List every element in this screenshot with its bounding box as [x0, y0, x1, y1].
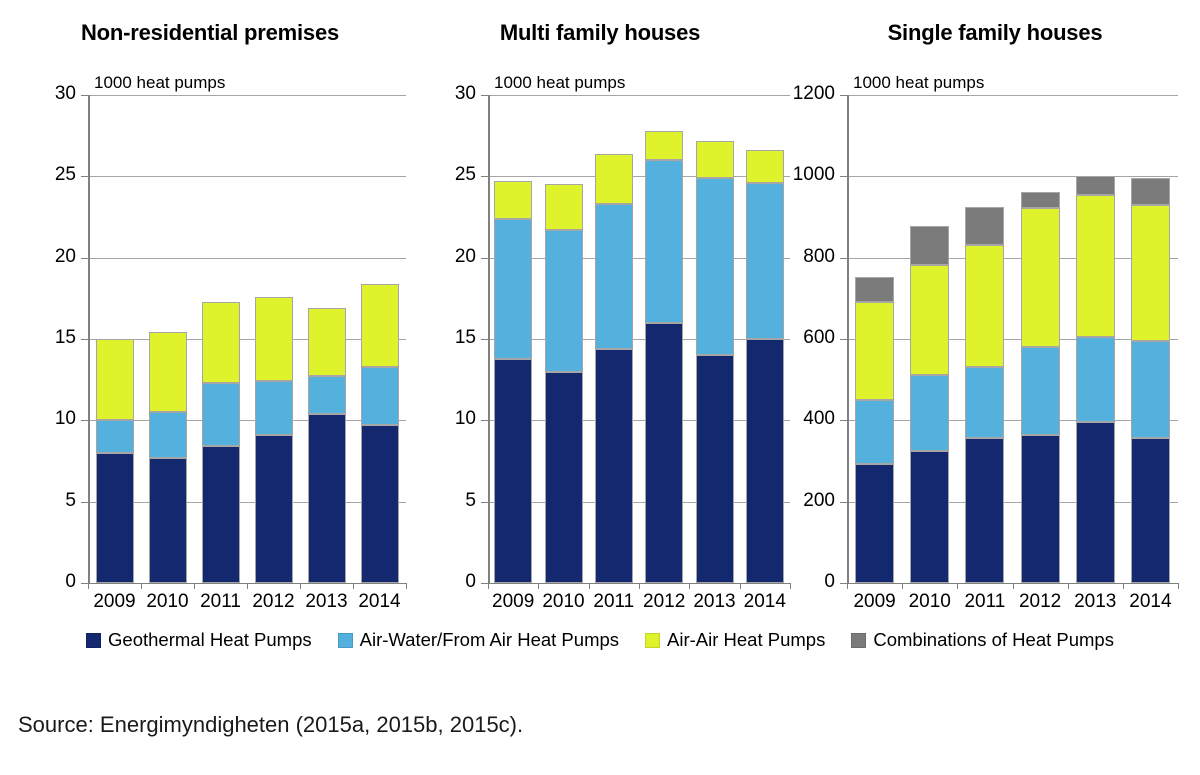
axis-unit-label: 1000 heat pumps — [494, 73, 625, 93]
bar-segment[interactable] — [696, 178, 734, 355]
stacked-bar[interactable] — [361, 95, 399, 583]
gridline — [849, 339, 1178, 340]
y-tick-mark — [481, 339, 488, 340]
y-axis-tick-label: 1200 — [781, 83, 835, 105]
bar-segment[interactable] — [1021, 435, 1060, 583]
legend-label: Combinations of Heat Pumps — [873, 629, 1114, 651]
stacked-bar[interactable] — [1076, 95, 1115, 583]
chart-panel-non-residential: Non-residential premises 1000 heat pumps… — [0, 0, 420, 615]
source-note: Source: Energimyndigheten (2015a, 2015b,… — [18, 712, 523, 738]
legend-label: Geothermal Heat Pumps — [108, 629, 312, 651]
bar-segment[interactable] — [202, 302, 240, 383]
bar-segment[interactable] — [202, 446, 240, 583]
bar-segment[interactable] — [965, 367, 1004, 438]
gridline — [90, 420, 406, 421]
plot-area-0: 1000 heat pumps0510152025302009201020112… — [0, 0, 420, 615]
gridline — [90, 339, 406, 340]
chart-panels: Non-residential premises 1000 heat pumps… — [0, 0, 1200, 615]
x-axis-line — [488, 583, 790, 584]
bar-segment[interactable] — [361, 367, 399, 426]
y-axis-tick-label: 15 — [22, 327, 76, 349]
legend-swatch-icon — [86, 633, 101, 648]
bar-segment[interactable] — [855, 302, 894, 400]
y-axis-tick-label: 5 — [22, 490, 76, 512]
y-axis-tick-label: 0 — [22, 571, 76, 593]
gridline — [90, 502, 406, 503]
legend-label: Air-Water/From Air Heat Pumps — [360, 629, 619, 651]
stacked-bar[interactable] — [910, 95, 949, 583]
bar-segment[interactable] — [361, 425, 399, 583]
stacked-bar[interactable] — [96, 95, 134, 583]
y-tick-mark — [481, 258, 488, 259]
stacked-bar[interactable] — [645, 95, 683, 583]
x-axis-tick-label: 2012 — [247, 591, 300, 613]
bar-segment[interactable] — [255, 297, 293, 382]
bar-segment[interactable] — [746, 150, 784, 183]
x-axis-line — [88, 583, 406, 584]
legend-label: Air-Air Heat Pumps — [667, 629, 825, 651]
gridline — [849, 95, 1178, 96]
legend-swatch-icon — [645, 633, 660, 648]
gridline — [90, 176, 406, 177]
plot-frame — [88, 95, 406, 583]
bar-segment[interactable] — [910, 226, 949, 265]
legend-swatch-icon — [851, 633, 866, 648]
x-axis-tick-label: 2012 — [639, 591, 689, 613]
bar-segment[interactable] — [910, 375, 949, 451]
y-axis-tick-label: 600 — [781, 327, 835, 349]
y-tick-mark — [840, 583, 847, 584]
bar-segment[interactable] — [1076, 337, 1115, 423]
stacked-bar[interactable] — [545, 95, 583, 583]
bar-segment[interactable] — [149, 458, 187, 583]
y-tick-mark — [840, 420, 847, 421]
y-tick-mark — [840, 502, 847, 503]
y-axis-tick-label: 0 — [422, 571, 476, 593]
x-axis-line — [847, 583, 1178, 584]
y-tick-mark — [81, 95, 88, 96]
y-tick-mark — [840, 258, 847, 259]
y-axis-tick-label: 15 — [422, 327, 476, 349]
x-axis-tick-label: 2010 — [141, 591, 194, 613]
bar-segment[interactable] — [855, 277, 894, 302]
chart-legend: Geothermal Heat PumpsAir-Water/From Air … — [0, 626, 1200, 654]
bar-segment[interactable] — [255, 381, 293, 435]
y-tick-mark — [81, 176, 88, 177]
bar-segment[interactable] — [96, 339, 134, 420]
y-tick-mark — [481, 583, 488, 584]
x-axis-tick-label: 2013 — [1068, 591, 1123, 613]
stacked-bar[interactable] — [696, 95, 734, 583]
legend-item[interactable]: Air-Air Heat Pumps — [645, 629, 825, 651]
bar-segment[interactable] — [595, 204, 633, 349]
y-axis-tick-label: 20 — [422, 246, 476, 268]
bar-segment[interactable] — [965, 438, 1004, 583]
y-tick-mark — [481, 502, 488, 503]
bar-segment[interactable] — [746, 183, 784, 339]
gridline — [849, 420, 1178, 421]
bar-segment[interactable] — [965, 245, 1004, 366]
stacked-bar[interactable] — [255, 95, 293, 583]
gridline — [849, 176, 1178, 177]
y-tick-mark — [81, 420, 88, 421]
y-axis-tick-label: 25 — [22, 164, 76, 186]
bar-segment[interactable] — [965, 207, 1004, 246]
bar-segment[interactable] — [595, 154, 633, 204]
legend-item[interactable]: Air-Water/From Air Heat Pumps — [338, 629, 619, 651]
gridline — [90, 95, 406, 96]
y-axis-tick-label: 0 — [781, 571, 835, 593]
x-axis-tick-label: 2011 — [957, 591, 1012, 613]
y-tick-mark — [840, 176, 847, 177]
legend-item[interactable]: Geothermal Heat Pumps — [86, 629, 312, 651]
bar-segment[interactable] — [1021, 208, 1060, 347]
bar-segment[interactable] — [910, 265, 949, 375]
x-axis-tick-label: 2009 — [488, 591, 538, 613]
y-axis-tick-label: 10 — [422, 408, 476, 430]
plot-frame — [847, 95, 1178, 583]
x-axis-tick-label: 2010 — [538, 591, 588, 613]
y-tick-mark — [481, 176, 488, 177]
stacked-bar[interactable] — [1131, 95, 1170, 583]
gridline — [849, 502, 1178, 503]
bar-segment[interactable] — [1021, 192, 1060, 207]
x-axis-tick-label: 2009 — [88, 591, 141, 613]
bar-segment[interactable] — [1131, 341, 1170, 438]
bar-segment[interactable] — [255, 435, 293, 583]
bar-segment[interactable] — [645, 323, 683, 583]
x-axis-tick-label: 2014 — [740, 591, 790, 613]
plot-frame — [488, 95, 790, 583]
bar-segment[interactable] — [308, 308, 346, 376]
stacked-bar[interactable] — [308, 95, 346, 583]
bar-segment[interactable] — [855, 464, 894, 583]
stacked-bar[interactable] — [965, 95, 1004, 583]
bar-segment[interactable] — [494, 219, 532, 359]
axis-unit-label: 1000 heat pumps — [94, 73, 225, 93]
gridline — [90, 258, 406, 259]
bar-segment[interactable] — [545, 184, 583, 230]
legend-swatch-icon — [338, 633, 353, 648]
x-axis-tick-label: 2013 — [689, 591, 739, 613]
y-tick-mark — [81, 339, 88, 340]
bar-segment[interactable] — [1131, 438, 1170, 583]
bar-segment[interactable] — [645, 131, 683, 160]
bar-segment[interactable] — [494, 181, 532, 218]
bar-segment[interactable] — [1021, 347, 1060, 435]
y-axis-tick-label: 10 — [22, 408, 76, 430]
bar-segment[interactable] — [1131, 205, 1170, 341]
bar-segment[interactable] — [96, 420, 134, 453]
x-axis-tick-label: 2011 — [194, 591, 247, 613]
y-tick-mark — [481, 95, 488, 96]
x-axis-tick-label: 2009 — [847, 591, 902, 613]
plot-area-2: 1000 heat pumps0200400600800100012002009… — [790, 0, 1200, 615]
bar-segment[interactable] — [149, 412, 187, 458]
stacked-bar[interactable] — [1021, 95, 1060, 583]
bar-segment[interactable] — [361, 284, 399, 367]
x-axis-tick-label: 2010 — [902, 591, 957, 613]
y-axis-tick-label: 20 — [22, 246, 76, 268]
x-axis-tick-label: 2011 — [589, 591, 639, 613]
bar-segment[interactable] — [545, 230, 583, 372]
bar-segment[interactable] — [545, 372, 583, 583]
bar-segment[interactable] — [645, 160, 683, 323]
bar-segment[interactable] — [308, 414, 346, 583]
stacked-bar[interactable] — [746, 95, 784, 583]
x-axis-tick-label: 2012 — [1013, 591, 1068, 613]
bar-segment[interactable] — [1076, 195, 1115, 336]
y-tick-mark — [81, 258, 88, 259]
y-axis-tick-label: 30 — [22, 83, 76, 105]
y-tick-mark — [840, 95, 847, 96]
bar-segment[interactable] — [910, 451, 949, 583]
stacked-bar[interactable] — [494, 95, 532, 583]
bar-segment[interactable] — [746, 339, 784, 583]
stacked-bar[interactable] — [595, 95, 633, 583]
y-tick-mark — [81, 502, 88, 503]
bar-segment[interactable] — [1131, 178, 1170, 204]
bar-segment[interactable] — [595, 349, 633, 583]
bar-segment[interactable] — [494, 359, 532, 583]
stacked-bar[interactable] — [149, 95, 187, 583]
bar-segment[interactable] — [202, 383, 240, 446]
y-axis-tick-label: 400 — [781, 408, 835, 430]
y-axis-tick-label: 5 — [422, 490, 476, 512]
plot-area-1: 1000 heat pumps0510152025302009201020112… — [400, 0, 800, 615]
bar-segment[interactable] — [96, 453, 134, 583]
y-tick-mark — [840, 339, 847, 340]
x-axis-tick-label: 2014 — [1123, 591, 1178, 613]
bar-segment[interactable] — [696, 141, 734, 178]
y-axis-tick-label: 200 — [781, 490, 835, 512]
bar-segment[interactable] — [696, 355, 734, 583]
heat-pump-figure: Non-residential premises 1000 heat pumps… — [0, 0, 1200, 775]
stacked-bar[interactable] — [202, 95, 240, 583]
legend-item[interactable]: Combinations of Heat Pumps — [851, 629, 1114, 651]
gridline — [849, 258, 1178, 259]
y-axis-tick-label: 1000 — [781, 164, 835, 186]
axis-unit-label: 1000 heat pumps — [853, 73, 984, 93]
y-tick-mark — [81, 583, 88, 584]
chart-panel-multi-family: Multi family houses 1000 heat pumps05101… — [400, 0, 800, 615]
x-axis-tick-label: 2013 — [300, 591, 353, 613]
bar-segment[interactable] — [308, 376, 346, 413]
y-axis-tick-label: 25 — [422, 164, 476, 186]
bar-segment[interactable] — [149, 332, 187, 412]
y-axis-tick-label: 800 — [781, 246, 835, 268]
bar-segment[interactable] — [1076, 422, 1115, 583]
y-axis-tick-label: 30 — [422, 83, 476, 105]
chart-panel-single-family: Single family houses 1000 heat pumps0200… — [790, 0, 1200, 615]
x-tick-mark — [1178, 583, 1179, 589]
x-axis-tick-label: 2014 — [353, 591, 406, 613]
bar-segment[interactable] — [855, 400, 894, 465]
y-tick-mark — [481, 420, 488, 421]
bar-segment[interactable] — [1076, 176, 1115, 196]
stacked-bar[interactable] — [855, 95, 894, 583]
